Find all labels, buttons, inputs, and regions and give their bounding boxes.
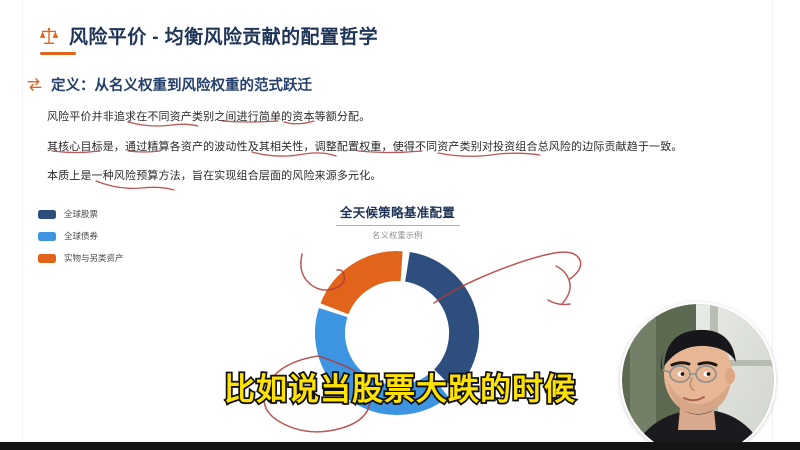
chart-title: 全天候策略基准配置: [23, 202, 772, 221]
page-title-row: 风险平价 - 均衡风险贡献的配置哲学: [38, 22, 378, 49]
presenter-webcam-image: [622, 304, 774, 442]
chart-heading: 全天候策略基准配置 名义权重示例: [23, 202, 772, 241]
balance-scales-icon: [38, 25, 60, 47]
legend-item[interactable]: 实物与另类资产: [38, 250, 124, 266]
donut-segment-alternatives[interactable]: [335, 266, 402, 309]
body-paragraph: 本质上是一种风险预算方法，旨在实现组合层面的风险来源多元化。: [47, 167, 382, 183]
title-underline-rule: [40, 52, 76, 55]
body-paragraph: 风险平价并非追求在不同资产类别之间进行简单的资本等额分配。: [47, 108, 370, 124]
bottom-bar: [0, 442, 800, 450]
chart-title-underline: [336, 225, 460, 226]
legend-swatch-alternatives: [38, 254, 56, 263]
body-paragraph: 其核心目标是，通过精算各资产的波动性及其相关性，调整配置权重，使得不同资产类别对…: [47, 138, 683, 154]
legend-label: 实物与另类资产: [64, 252, 124, 264]
page-title: 风险平价 - 均衡风险贡献的配置哲学: [69, 22, 378, 49]
section-heading-row: 定义：从名义权重到风险权重的范式跃迁: [26, 74, 312, 95]
section-heading: 定义：从名义权重到风险权重的范式跃迁: [51, 74, 312, 95]
exchange-arrows-icon: [26, 76, 43, 93]
slide-surface: 风险平价 - 均衡风险贡献的配置哲学 定义：从名义权重到风险权重的范式跃迁 风险…: [0, 0, 800, 442]
